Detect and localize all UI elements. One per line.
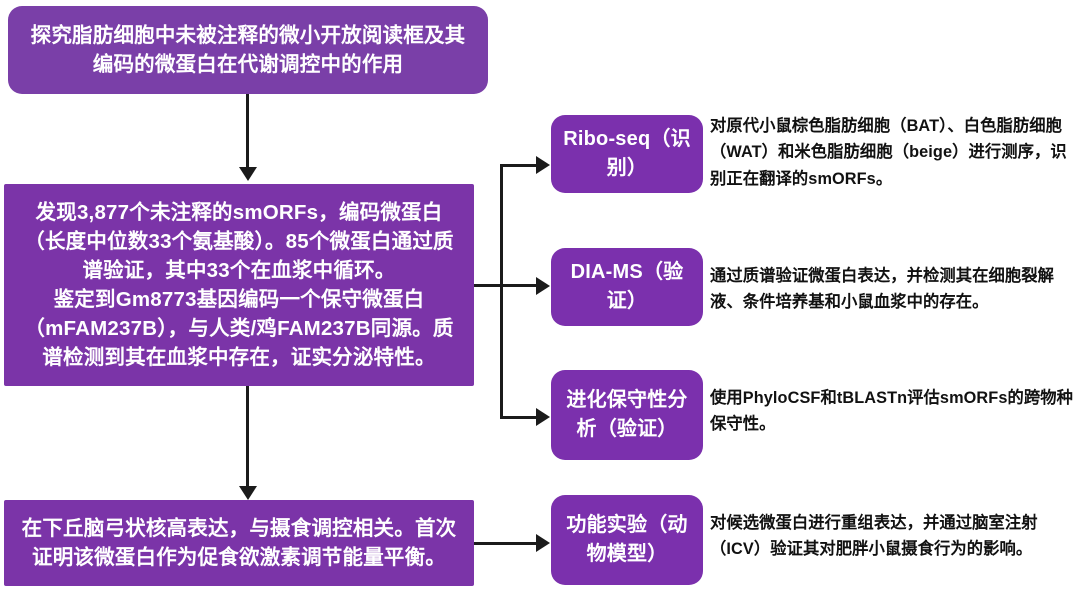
connector-to-functional-experiment bbox=[474, 542, 540, 545]
arrowhead-to-ribo-seq bbox=[536, 156, 550, 174]
research-question-box: 探究脂肪细胞中未被注释的微小开放阅读框及其编码的微蛋白在代谢调控中的作用 bbox=[8, 6, 488, 94]
ribo-seq-description-text: 对原代小鼠棕色脂肪细胞（BAT）、白色脂肪细胞（WAT）和米色脂肪细胞（beig… bbox=[710, 117, 1067, 188]
findings-box: 发现3,877个未注释的smORFs，编码微蛋白（长度中位数33个氨基酸）。85… bbox=[4, 184, 474, 386]
method-description-ribo-seq: 对原代小鼠棕色脂肪细胞（BAT）、白色脂肪细胞（WAT）和米色脂肪细胞（beig… bbox=[710, 113, 1074, 192]
method-label-dia-ms: DIA-MS（验证） bbox=[561, 258, 693, 316]
arrowhead-title-to-findings bbox=[239, 167, 257, 181]
functional-description-text: 对候选微蛋白进行重组表达，并通过脑室注射（ICV）验证其对肥胖小鼠摄食行为的影响… bbox=[710, 514, 1038, 558]
arrowhead-to-dia-ms bbox=[536, 277, 550, 295]
dia-ms-description-text: 通过质谱验证微蛋白表达，并检测其在细胞裂解液、条件培养基和小鼠血浆中的存在。 bbox=[710, 267, 1054, 311]
method-box-functional: 功能实验（动物模型） bbox=[551, 495, 703, 585]
connector-branch-spine bbox=[500, 164, 503, 419]
connector-branch-stem bbox=[474, 284, 536, 287]
flowchart-canvas: 探究脂肪细胞中未被注释的微小开放阅读框及其编码的微蛋白在代谢调控中的作用 发现3… bbox=[0, 0, 1080, 592]
method-box-dia-ms: DIA-MS（验证） bbox=[551, 248, 703, 326]
method-label-conservation: 进化保守性分析（验证） bbox=[561, 386, 693, 444]
conclusion-text: 在下丘脑弓状核高表达，与摄食调控相关。首次证明该微蛋白作为促食欲激素调节能量平衡… bbox=[18, 514, 460, 572]
method-label-functional: 功能实验（动物模型） bbox=[561, 511, 693, 569]
method-box-conservation: 进化保守性分析（验证） bbox=[551, 370, 703, 460]
connector-to-ribo-seq bbox=[500, 164, 540, 167]
findings-text: 发现3,877个未注释的smORFs，编码微蛋白（长度中位数33个氨基酸）。85… bbox=[18, 198, 460, 373]
arrowhead-findings-to-conclusion bbox=[239, 486, 257, 500]
research-question-text: 探究脂肪细胞中未被注释的微小开放阅读框及其编码的微蛋白在代谢调控中的作用 bbox=[22, 21, 474, 79]
conclusion-box: 在下丘脑弓状核高表达，与摄食调控相关。首次证明该微蛋白作为促食欲激素调节能量平衡… bbox=[4, 500, 474, 586]
method-description-conservation: 使用PhyloCSF和tBLASTn评估smORFs的跨物种保守性。 bbox=[710, 385, 1074, 438]
connector-title-to-findings bbox=[246, 94, 249, 170]
conservation-description-text: 使用PhyloCSF和tBLASTn评估smORFs的跨物种保守性。 bbox=[710, 389, 1073, 433]
connector-to-conservation bbox=[500, 416, 540, 419]
method-box-ribo-seq: Ribo-seq（识别） bbox=[551, 115, 703, 193]
arrowhead-to-conservation bbox=[536, 408, 550, 426]
arrowhead-to-functional-experiment bbox=[536, 534, 550, 552]
connector-findings-to-conclusion bbox=[246, 386, 249, 489]
method-label-ribo-seq: Ribo-seq（识别） bbox=[561, 125, 693, 183]
method-description-dia-ms: 通过质谱验证微蛋白表达，并检测其在细胞裂解液、条件培养基和小鼠血浆中的存在。 bbox=[710, 263, 1074, 316]
method-description-functional: 对候选微蛋白进行重组表达，并通过脑室注射（ICV）验证其对肥胖小鼠摄食行为的影响… bbox=[710, 510, 1074, 563]
